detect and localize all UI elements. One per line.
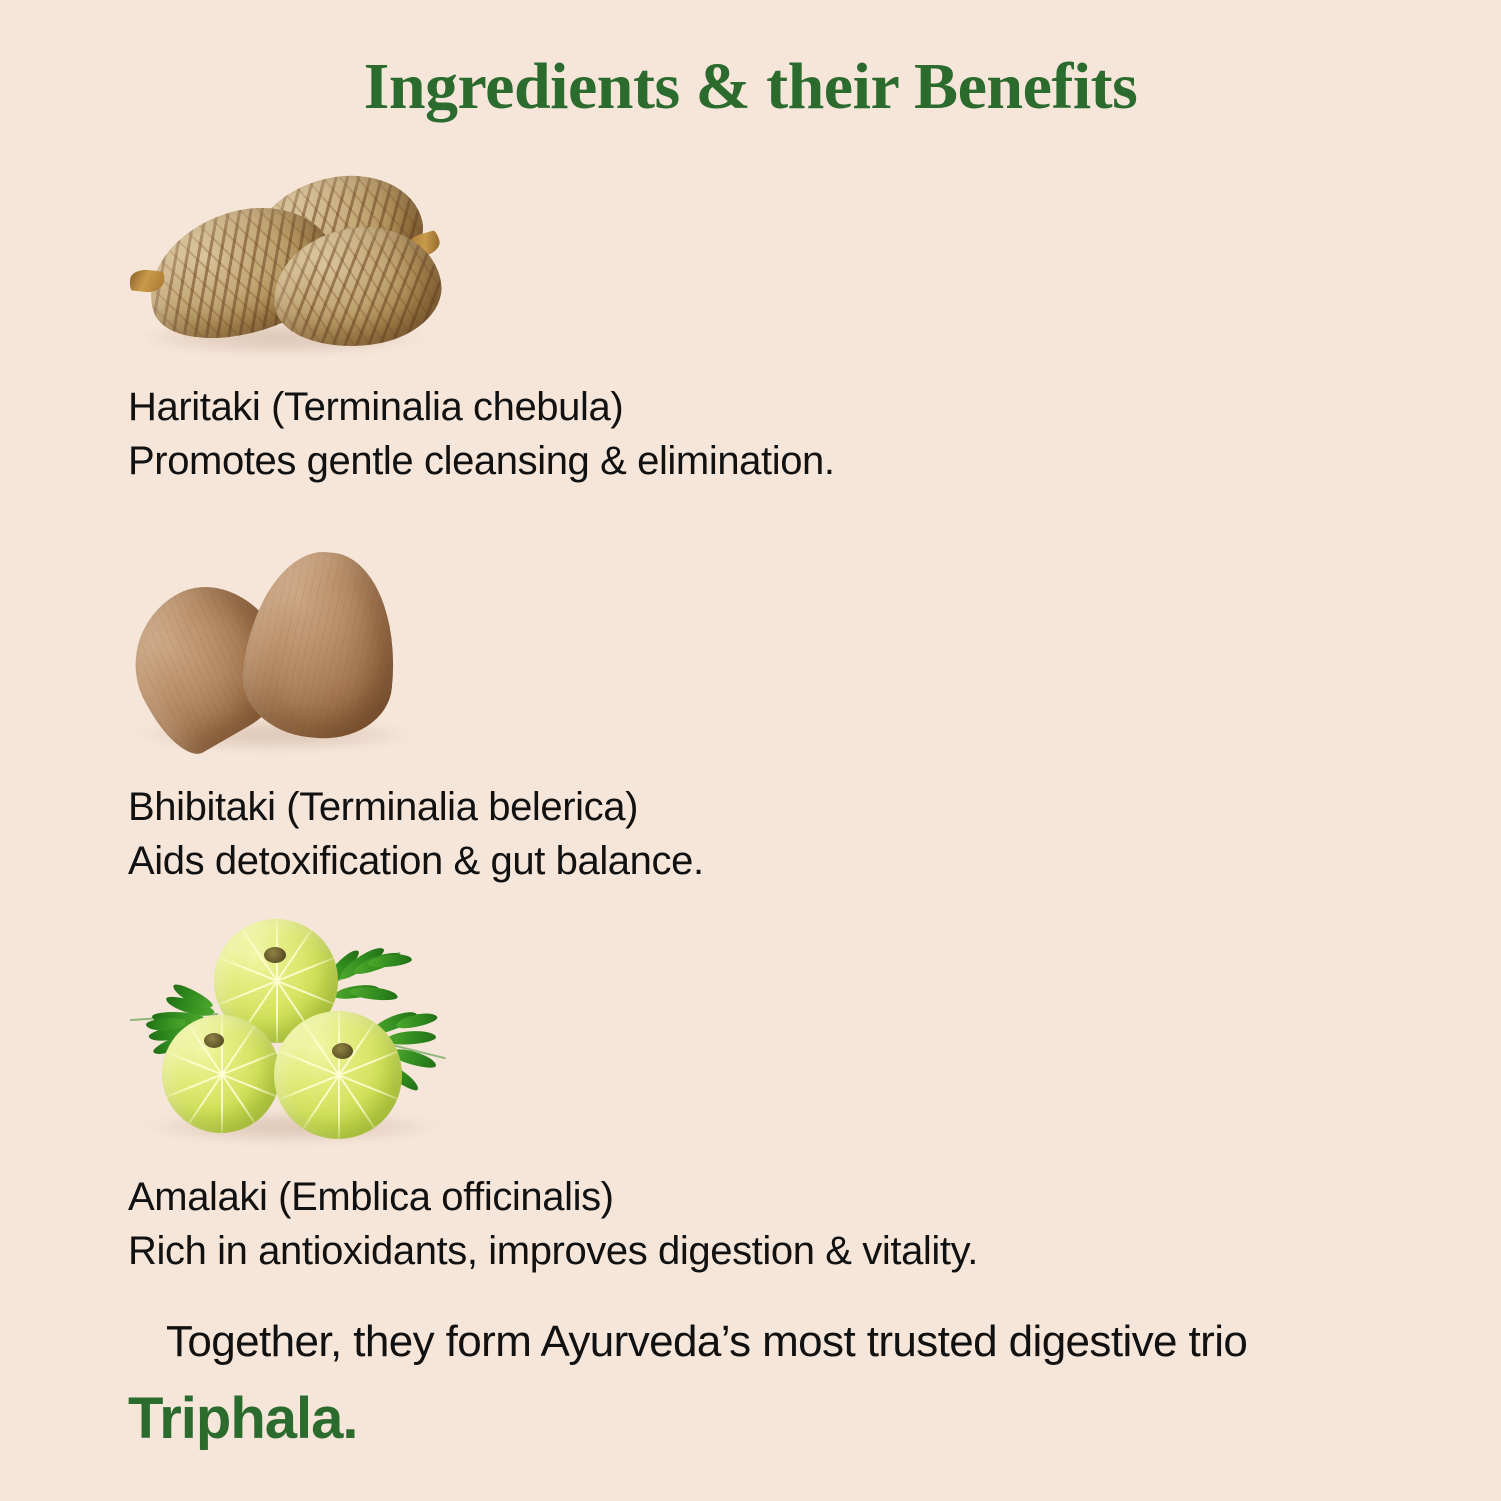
haritaki-text: Haritaki (Terminalia chebula) Promotes g…: [128, 384, 1501, 486]
ingredient-benefit: Promotes gentle cleansing & elimination.: [128, 437, 1501, 486]
ingredient-block-haritaki: Haritaki (Terminalia chebula) Promotes g…: [0, 170, 1501, 486]
conclusion-block: Together, they form Ayurveda’s most trus…: [0, 1316, 1501, 1451]
haritaki-fruits-image: [128, 170, 448, 370]
ingredient-benefit: Aids detoxification & gut balance.: [128, 837, 1501, 886]
ingredients-benefits-page: Ingredients & their Benefits Haritaki (T…: [0, 0, 1501, 1501]
page-title: Ingredients & their Benefits: [0, 52, 1501, 121]
ingredient-name: Haritaki (Terminalia chebula): [128, 384, 1501, 431]
amalaki-fruits-image: [128, 905, 468, 1160]
ingredient-block-amalaki: Amalaki (Emblica officinalis) Rich in an…: [0, 905, 1501, 1276]
ingredient-name: Bhibitaki (Terminalia belerica): [128, 784, 1501, 831]
amalaki-text: Amalaki (Emblica officinalis) Rich in an…: [128, 1174, 1501, 1276]
bhibitaki-fruits-image: [128, 540, 438, 770]
brand-name: Triphala.: [128, 1387, 1501, 1451]
ingredient-benefit: Rich in antioxidants, improves digestion…: [128, 1227, 1501, 1276]
ingredient-name: Amalaki (Emblica officinalis): [128, 1174, 1501, 1221]
bhibitaki-text: Bhibitaki (Terminalia belerica) Aids det…: [128, 784, 1501, 886]
ingredient-block-bhibitaki: Bhibitaki (Terminalia belerica) Aids det…: [0, 540, 1501, 886]
conclusion-text: Together, they form Ayurveda’s most trus…: [166, 1316, 1501, 1369]
